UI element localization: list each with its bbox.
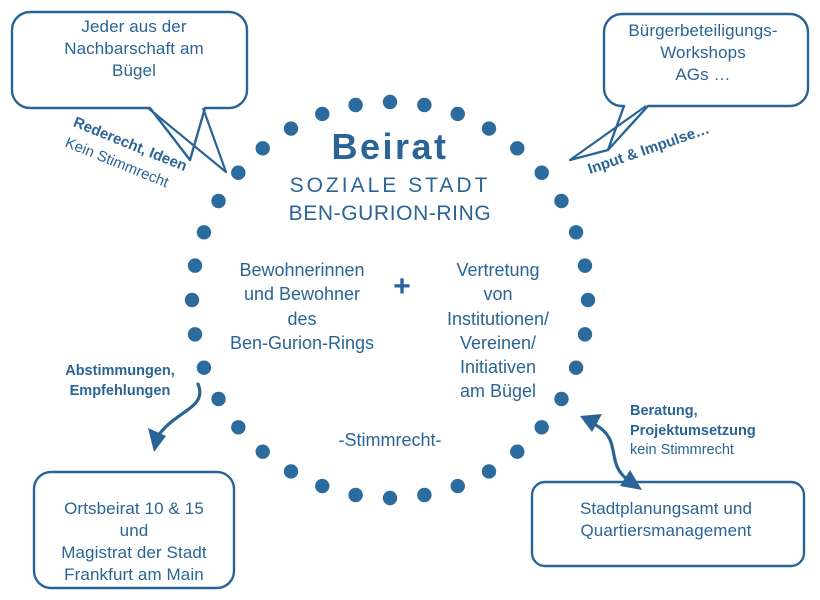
- arrow-beratung-head-up: [580, 414, 602, 432]
- ring-dot: [383, 491, 397, 505]
- caption-beratung-bold: Beratung,Projektumsetzung: [630, 402, 806, 441]
- ring-dot: [510, 444, 524, 458]
- ring-dot: [188, 258, 202, 272]
- ring-dot: [482, 464, 496, 478]
- ring-dot: [315, 479, 329, 493]
- ring-dot: [534, 420, 548, 434]
- caption-beratung: Beratung,Projektumsetzung kein Stimmrech…: [630, 402, 806, 461]
- box-bottom-left-outline[interactable]: [34, 472, 234, 588]
- ring-dot: [451, 107, 465, 121]
- center-subtitle-2: BEN-GURION-RING: [230, 202, 550, 226]
- center-column-right: VertretungvonInstitutionen/Vereinen/Init…: [424, 258, 572, 404]
- ring-dot: [348, 488, 362, 502]
- plus-icon: +: [388, 272, 416, 302]
- ring-dot: [188, 327, 202, 341]
- ring-dot: [315, 107, 329, 121]
- ring-dot: [197, 361, 211, 375]
- center-footer-note: -Stimmrecht-: [300, 430, 480, 451]
- ring-dot: [197, 225, 211, 239]
- caption-beratung-regular: kein Stimmrecht: [630, 441, 806, 461]
- ring-dot: [417, 98, 431, 112]
- bubble-top-left-outline[interactable]: [12, 12, 247, 160]
- connector-top-right: [570, 106, 646, 160]
- ring-dot: [569, 225, 583, 239]
- caption-abstimmungen: Abstimmungen,Empfehlungen: [44, 362, 196, 401]
- ring-dot: [451, 479, 465, 493]
- ring-dot: [581, 293, 595, 307]
- ring-dot: [383, 95, 397, 109]
- diagram-canvas: Jeder aus derNachbarschaft amBügel Bürge…: [0, 0, 820, 600]
- ring-dot: [231, 420, 245, 434]
- ring-dot: [185, 293, 199, 307]
- arrow-beratung: [594, 424, 628, 480]
- ring-dot: [578, 327, 592, 341]
- ring-dot: [417, 488, 431, 502]
- bubble-top-right-outline[interactable]: [604, 14, 808, 150]
- ring-dot: [284, 464, 298, 478]
- ring-dot: [554, 194, 568, 208]
- center-title: Beirat: [230, 126, 550, 168]
- ring-dot: [348, 98, 362, 112]
- center-subtitle-1: SOZIALE STADT: [230, 174, 550, 198]
- ring-dot: [578, 258, 592, 272]
- ring-dot: [256, 444, 270, 458]
- box-bottom-right-outline[interactable]: [532, 482, 804, 566]
- ring-dot: [211, 392, 225, 406]
- center-column-left: Bewohnerinnenund BewohnerdesBen-Gurion-R…: [218, 258, 386, 355]
- ring-dot: [211, 194, 225, 208]
